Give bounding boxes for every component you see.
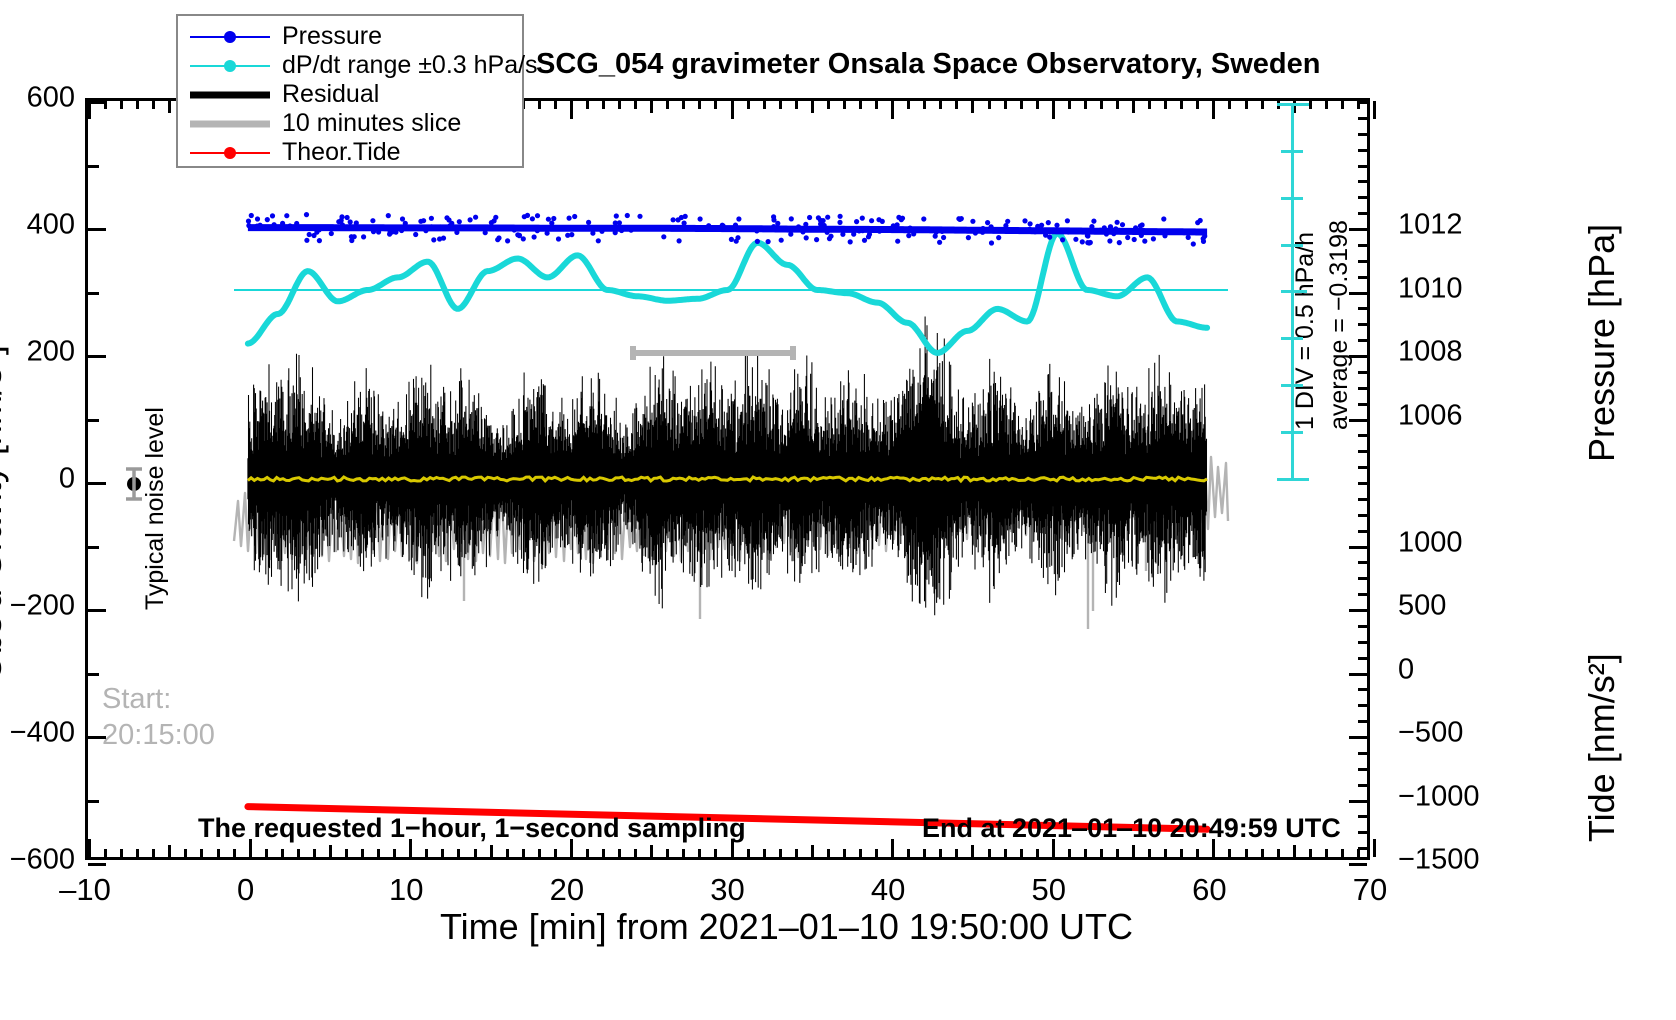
- start-label-line1: Start:: [102, 681, 215, 717]
- axis-minor-tick: [650, 845, 653, 857]
- axis-minor-tick: [1358, 514, 1367, 517]
- y-tick-label: 0: [0, 463, 75, 496]
- axis-minor-tick: [666, 849, 669, 857]
- axis-tick: [891, 101, 894, 119]
- axis-minor-tick: [522, 849, 525, 857]
- y-tick-label: 200: [0, 336, 75, 369]
- axis-minor-tick: [1245, 849, 1248, 857]
- x-tick-label: 60: [1192, 872, 1226, 908]
- axis-tick: [891, 839, 894, 857]
- axis-tick: [88, 839, 91, 857]
- x-tick-label: 30: [710, 872, 744, 908]
- axis-tick: [88, 736, 106, 739]
- axis-minor-tick: [554, 849, 557, 857]
- axis-minor-tick: [1084, 849, 1087, 857]
- axis-minor-tick: [1116, 849, 1119, 857]
- axis-minor-tick: [602, 101, 605, 109]
- axis-minor-tick: [988, 101, 991, 109]
- legend-item-label: dP/dt range ±0.3 hPa/s: [282, 53, 538, 78]
- axis-minor-tick: [827, 101, 830, 109]
- axis-minor-tick: [1293, 845, 1296, 857]
- legend-item-10-minutes-slice[interactable]: 10 minutes slice: [178, 109, 522, 138]
- legend-swatch-icon: [190, 114, 270, 134]
- axis-minor-tick: [843, 849, 846, 857]
- legend-item-dp-dt-range-0-3-hpa-s[interactable]: dP/dt range ±0.3 hPa/s: [178, 51, 522, 80]
- axis-minor-tick: [104, 849, 107, 857]
- axis-minor-tick: [217, 849, 220, 857]
- axis-minor-tick: [474, 849, 477, 857]
- axis-minor-tick: [1357, 849, 1360, 857]
- axis-minor-tick: [843, 101, 846, 109]
- axis-minor-tick: [1358, 561, 1367, 564]
- axis-minor-tick: [955, 849, 958, 857]
- axis-minor-tick: [795, 849, 798, 857]
- axis-minor-tick: [1325, 849, 1328, 857]
- tide-tick-label: 1000: [1398, 526, 1463, 559]
- axis-minor-tick: [1148, 849, 1151, 857]
- legend-item-pressure[interactable]: Pressure: [178, 22, 522, 51]
- tide-axis-title: Tide [nm/s²]: [1581, 653, 1623, 842]
- axis-minor-tick: [779, 101, 782, 109]
- typical-noise-marker: [126, 469, 142, 499]
- axis-minor-tick: [1358, 530, 1367, 533]
- axis-minor-tick: [441, 849, 444, 857]
- axis-minor-tick: [1358, 546, 1367, 549]
- axis-minor-tick: [971, 101, 974, 113]
- axis-minor-tick: [120, 101, 123, 109]
- axis-minor-tick: [875, 101, 878, 109]
- axis-minor-tick: [168, 845, 171, 857]
- axis-minor-tick: [875, 849, 878, 857]
- axis-minor-tick: [152, 101, 155, 109]
- legend-swatch-icon: [190, 85, 270, 105]
- axis-minor-tick: [1358, 831, 1367, 834]
- axis-minor-tick: [377, 849, 380, 857]
- axis-minor-tick: [1358, 800, 1367, 803]
- axis-tick: [1052, 101, 1055, 119]
- axis-minor-tick: [554, 101, 557, 109]
- legend-item-label: 10 minutes slice: [282, 111, 461, 136]
- axis-minor-tick: [1358, 593, 1367, 596]
- legend-item-residual[interactable]: Residual: [178, 80, 522, 109]
- axis-minor-tick: [586, 849, 589, 857]
- axis-tick: [88, 609, 106, 612]
- left-axis-tick-labels: 6004002000−200−400−600: [0, 0, 75, 1020]
- axis-minor-tick: [1004, 101, 1007, 109]
- axis-minor-tick: [811, 845, 814, 857]
- y-tick-label: −200: [0, 590, 75, 623]
- axis-minor-tick: [136, 101, 139, 109]
- axis-minor-tick: [1341, 849, 1344, 857]
- axis-minor-tick: [698, 101, 701, 109]
- tide-tick-label: −1000: [1398, 780, 1479, 813]
- legend-swatch-icon: [190, 27, 270, 47]
- axis-minor-tick: [538, 101, 541, 109]
- axis-minor-tick: [682, 849, 685, 857]
- axis-minor-tick: [1358, 863, 1367, 866]
- axis-minor-tick: [939, 101, 942, 109]
- axis-minor-tick: [88, 673, 99, 676]
- axis-minor-tick: [538, 849, 541, 857]
- axis-minor-tick: [393, 849, 396, 857]
- axis-minor-tick: [988, 849, 991, 857]
- axis-minor-tick: [1100, 849, 1103, 857]
- chart-traces: [88, 101, 1367, 857]
- axis-minor-tick: [971, 845, 974, 857]
- axis-minor-tick: [650, 101, 653, 113]
- axis-tick: [88, 355, 106, 358]
- axis-minor-tick: [1228, 849, 1231, 857]
- chart-legend[interactable]: PressuredP/dt range ±0.3 hPa/sResidual10…: [176, 14, 524, 168]
- axis-minor-tick: [1261, 101, 1264, 109]
- axis-minor-tick: [506, 849, 509, 857]
- axis-minor-tick: [361, 849, 364, 857]
- tide-tick-label: −500: [1398, 717, 1463, 750]
- x-tick-label: 40: [871, 872, 905, 908]
- axis-minor-tick: [152, 849, 155, 857]
- axis-minor-tick: [1358, 752, 1367, 755]
- axis-tick: [1373, 839, 1376, 857]
- axis-minor-tick: [1261, 849, 1264, 857]
- axis-minor-tick: [1358, 720, 1367, 723]
- axis-minor-tick: [104, 101, 107, 109]
- axis-minor-tick: [88, 292, 99, 295]
- x-tick-label: ‒10: [59, 872, 111, 908]
- axis-tick: [1212, 839, 1215, 857]
- axis-minor-tick: [747, 101, 750, 109]
- legend-item-label: Theor.Tide: [282, 140, 401, 165]
- axis-tick: [570, 839, 573, 857]
- axis-minor-tick: [1358, 577, 1367, 580]
- axis-tick: [1052, 839, 1055, 857]
- axis-minor-tick: [1164, 849, 1167, 857]
- y-tick-label: 400: [0, 209, 75, 242]
- axis-minor-tick: [1277, 849, 1280, 857]
- axis-minor-tick: [88, 800, 99, 803]
- axis-minor-tick: [1358, 657, 1367, 660]
- tide-tick-label: 0: [1398, 653, 1414, 686]
- axis-tick: [409, 839, 412, 857]
- axis-minor-tick: [1358, 673, 1367, 676]
- start-label-line2: 20:15:00: [102, 717, 215, 753]
- x-tick-label: 70: [1353, 872, 1387, 908]
- axis-minor-tick: [1164, 101, 1167, 109]
- chart-title: SCG_054 gravimeter Onsala Space Observat…: [536, 48, 1320, 81]
- axis-minor-tick: [747, 849, 750, 857]
- x-axis-title: Time [min] from 2021‒01‒10 19:50:00 UTC: [440, 906, 1133, 948]
- legend-swatch-icon: [190, 143, 270, 163]
- axis-minor-tick: [634, 101, 637, 109]
- axis-minor-tick: [1358, 609, 1367, 612]
- axis-minor-tick: [1068, 101, 1071, 109]
- axis-minor-tick: [859, 101, 862, 109]
- start-time-annotation: Start: 20:15:00: [102, 681, 215, 754]
- axis-minor-tick: [682, 101, 685, 109]
- axis-minor-tick: [923, 849, 926, 857]
- axis-minor-tick: [1148, 101, 1151, 109]
- axis-minor-tick: [1358, 625, 1367, 628]
- axis-minor-tick: [1004, 849, 1007, 857]
- axis-minor-tick: [1180, 849, 1183, 857]
- y-axis-title: Obs'd Gravity [nm/s²]: [0, 345, 10, 682]
- axis-minor-tick: [1309, 849, 1312, 857]
- axis-minor-tick: [1358, 768, 1367, 771]
- x-tick-label: 50: [1032, 872, 1066, 908]
- legend-item-label: Pressure: [282, 24, 382, 49]
- axis-tick: [731, 101, 734, 119]
- x-tick-label: 0: [237, 872, 254, 908]
- typical-noise-level-label: Typical noise level: [141, 407, 170, 610]
- axis-minor-tick: [1180, 101, 1183, 109]
- axis-minor-tick: [1245, 101, 1248, 109]
- axis-minor-tick: [939, 849, 942, 857]
- axis-minor-tick: [618, 101, 621, 109]
- axis-minor-tick: [634, 849, 637, 857]
- axis-minor-tick: [233, 849, 236, 857]
- axis-minor-tick: [1358, 784, 1367, 787]
- axis-minor-tick: [586, 101, 589, 109]
- axis-minor-tick: [88, 419, 99, 422]
- axis-minor-tick: [907, 101, 910, 109]
- pressure-axis-title: Pressure [hPa]: [1581, 224, 1623, 462]
- axis-minor-tick: [602, 849, 605, 857]
- x-tick-label: 20: [550, 872, 584, 908]
- axis-minor-tick: [88, 165, 99, 168]
- legend-item-theor-tide[interactable]: Theor.Tide: [178, 138, 522, 167]
- axis-minor-tick: [313, 849, 316, 857]
- axis-minor-tick: [1358, 704, 1367, 707]
- x-tick-label: 10: [389, 872, 423, 908]
- axis-minor-tick: [490, 845, 493, 857]
- axis-minor-tick: [907, 849, 910, 857]
- axis-minor-tick: [1196, 101, 1199, 109]
- axis-minor-tick: [714, 101, 717, 109]
- legend-item-label: Residual: [282, 82, 379, 107]
- axis-minor-tick: [955, 101, 958, 109]
- axis-minor-tick: [1068, 849, 1071, 857]
- axis-minor-tick: [763, 101, 766, 109]
- axis-minor-tick: [1358, 736, 1367, 739]
- axis-minor-tick: [1036, 101, 1039, 109]
- axis-minor-tick: [859, 849, 862, 857]
- tide-axis-tick-labels: 10005000−500−1000−1500: [1398, 0, 1518, 1020]
- y-tick-label: 600: [0, 82, 75, 115]
- footer-right-note: End at 2021‒01‒10 20:49:59 UTC: [922, 813, 1341, 844]
- axis-tick: [88, 863, 106, 866]
- dpdt-scale-bar: [1273, 101, 1393, 501]
- axis-minor-tick: [345, 849, 348, 857]
- axis-minor-tick: [923, 101, 926, 109]
- axis-tick: [88, 482, 106, 485]
- axis-minor-tick: [698, 849, 701, 857]
- axis-minor-tick: [714, 849, 717, 857]
- axis-minor-tick: [1116, 101, 1119, 109]
- axis-minor-tick: [329, 845, 332, 857]
- legend-swatch-icon: [190, 56, 270, 76]
- axis-minor-tick: [1358, 641, 1367, 644]
- axis-minor-tick: [457, 849, 460, 857]
- axis-minor-tick: [1358, 815, 1367, 818]
- slice-indicator-bar: [633, 346, 793, 360]
- axis-minor-tick: [200, 849, 203, 857]
- axis-minor-tick: [618, 849, 621, 857]
- y-tick-label: −400: [0, 717, 75, 750]
- axis-tick: [249, 839, 252, 857]
- axis-minor-tick: [1036, 849, 1039, 857]
- axis-minor-tick: [297, 849, 300, 857]
- axis-minor-tick: [1196, 849, 1199, 857]
- footer-left-note: The requested 1−hour, 1−second sampling: [198, 813, 746, 844]
- axis-tick: [88, 228, 106, 231]
- axis-minor-tick: [1100, 101, 1103, 109]
- axis-tick: [88, 101, 91, 119]
- axis-minor-tick: [1020, 849, 1023, 857]
- axis-minor-tick: [1358, 688, 1367, 691]
- axis-minor-tick: [1020, 101, 1023, 109]
- axis-minor-tick: [120, 849, 123, 857]
- axis-minor-tick: [763, 849, 766, 857]
- axis-minor-tick: [827, 849, 830, 857]
- axis-minor-tick: [779, 849, 782, 857]
- axis-minor-tick: [168, 101, 171, 113]
- tide-tick-label: 500: [1398, 590, 1446, 623]
- axis-minor-tick: [795, 101, 798, 109]
- axis-tick: [570, 101, 573, 119]
- axis-minor-tick: [1132, 845, 1135, 857]
- axis-minor-tick: [136, 849, 139, 857]
- axis-minor-tick: [281, 849, 284, 857]
- plot-area: Typical noise level Start: 20:15:00 The …: [85, 98, 1370, 860]
- axis-minor-tick: [1132, 101, 1135, 113]
- axis-minor-tick: [666, 101, 669, 109]
- axis-tick: [1212, 101, 1215, 119]
- axis-minor-tick: [425, 849, 428, 857]
- axis-tick: [731, 839, 734, 857]
- axis-minor-tick: [184, 849, 187, 857]
- axis-minor-tick: [811, 101, 814, 113]
- axis-minor-tick: [265, 849, 268, 857]
- axis-minor-tick: [1228, 101, 1231, 109]
- axis-minor-tick: [1084, 101, 1087, 109]
- axis-minor-tick: [88, 546, 99, 549]
